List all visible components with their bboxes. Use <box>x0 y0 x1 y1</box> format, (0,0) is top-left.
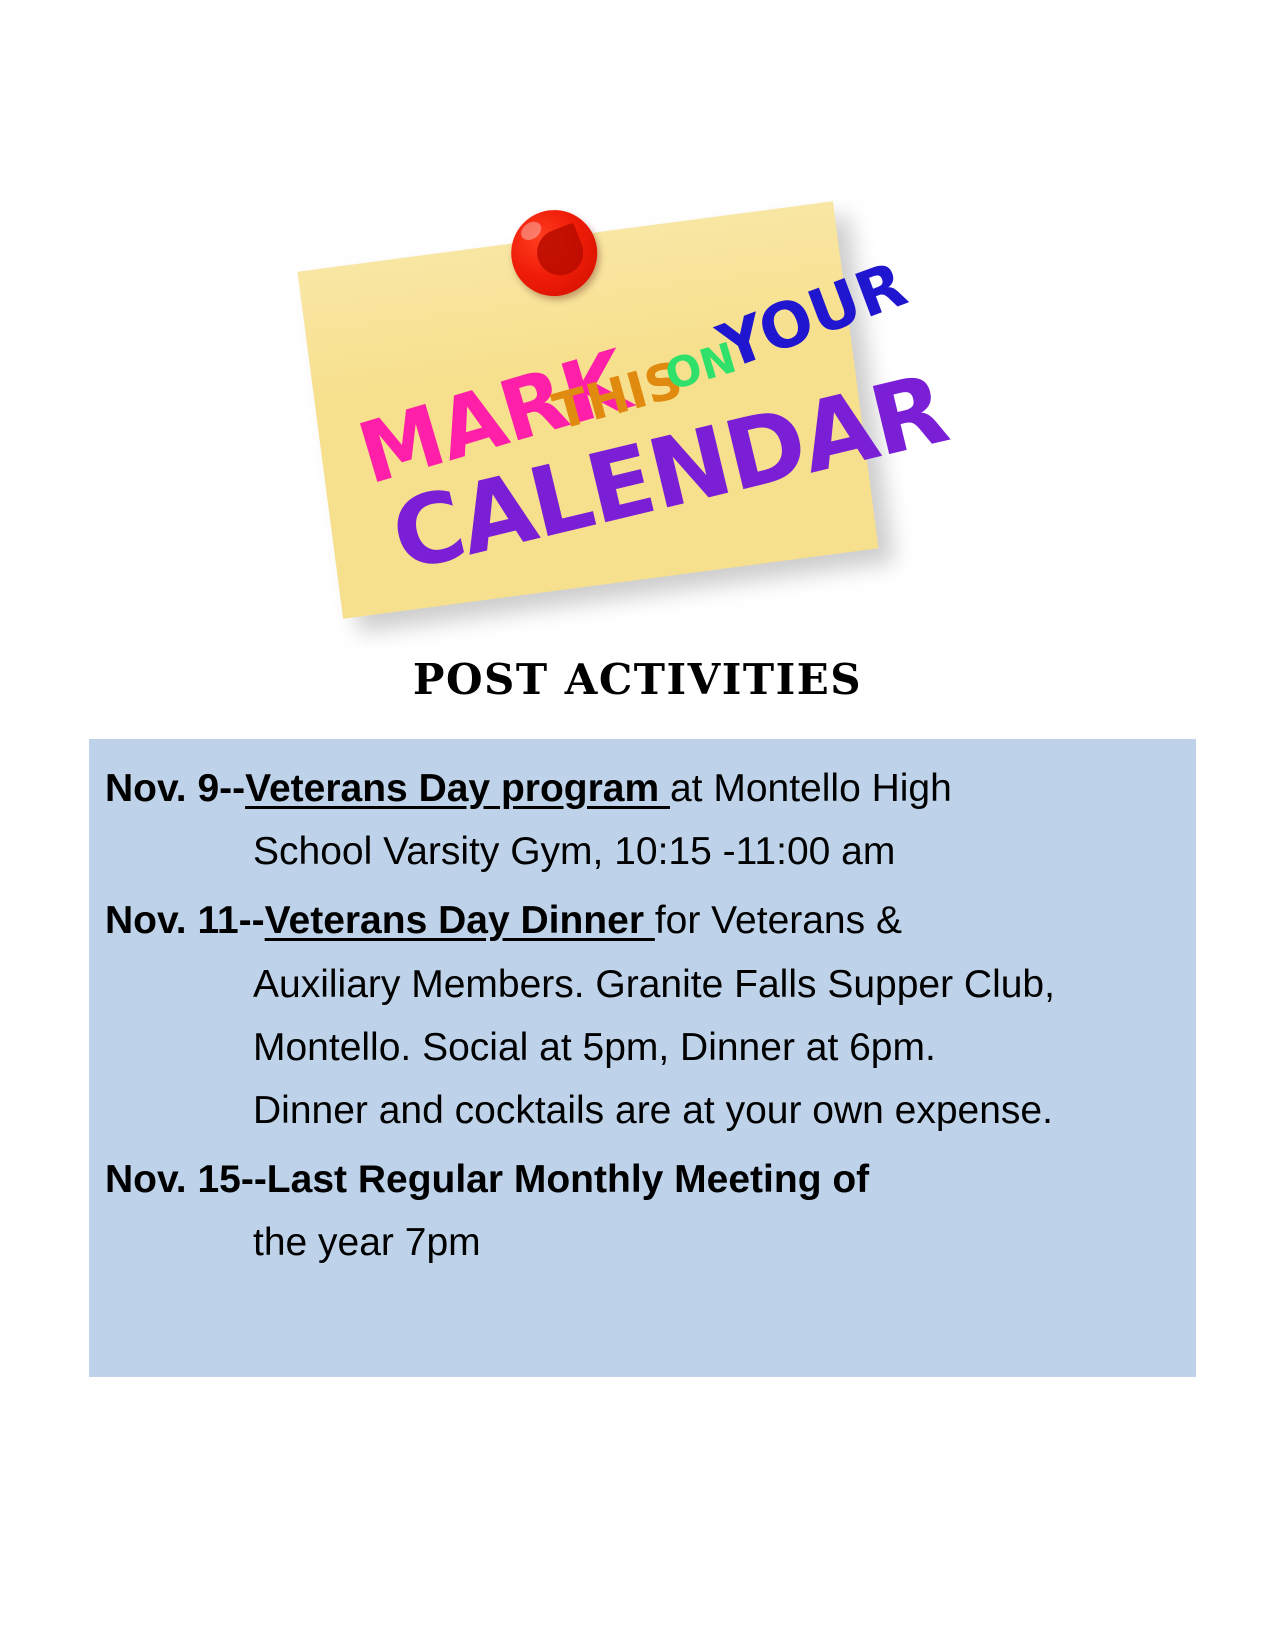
page-title: POST ACTIVITIES <box>0 655 1275 704</box>
activity-continuation-line: the year 7pm <box>105 1211 1186 1274</box>
activity-item-nov-9: Nov. 9--Veterans Day program at Montello… <box>99 757 1186 883</box>
activity-emphasis-nov-11: Veterans Day Dinner <box>265 899 655 942</box>
calendar-clipart: MARK THIS ON YOUR CALENDAR <box>0 200 1275 640</box>
activity-date-nov-11: Nov. 11-- <box>105 899 265 942</box>
activity-date-nov-15: Nov. 15--Last Regular Monthly Meeting of <box>105 1158 869 1201</box>
activity-date-nov-9: Nov. 9-- <box>105 767 245 810</box>
activity-item-nov-11: Nov. 11--Veterans Day Dinner for Veteran… <box>99 889 1186 1142</box>
activity-rest-nov-9: at Montello High <box>670 767 952 810</box>
activity-continuation-line: Montello. Social at 5pm, Dinner at 6pm. <box>105 1016 1186 1079</box>
activity-continuation-line: School Varsity Gym, 10:15 -11:00 am <box>105 820 1186 883</box>
post-activities-panel: Nov. 9--Veterans Day program at Montello… <box>89 739 1196 1377</box>
note-card: MARK THIS ON YOUR CALENDAR <box>297 201 878 618</box>
activity-item-nov-15: Nov. 15--Last Regular Monthly Meeting of… <box>99 1148 1186 1274</box>
activity-continuation-line: Auxiliary Members. Granite Falls Supper … <box>105 953 1186 1016</box>
activity-emphasis-nov-9: Veterans Day program <box>245 767 670 810</box>
activity-continuation-line: Dinner and cocktails are at your own exp… <box>105 1079 1186 1142</box>
activity-rest-nov-11: for Veterans & <box>655 899 902 942</box>
